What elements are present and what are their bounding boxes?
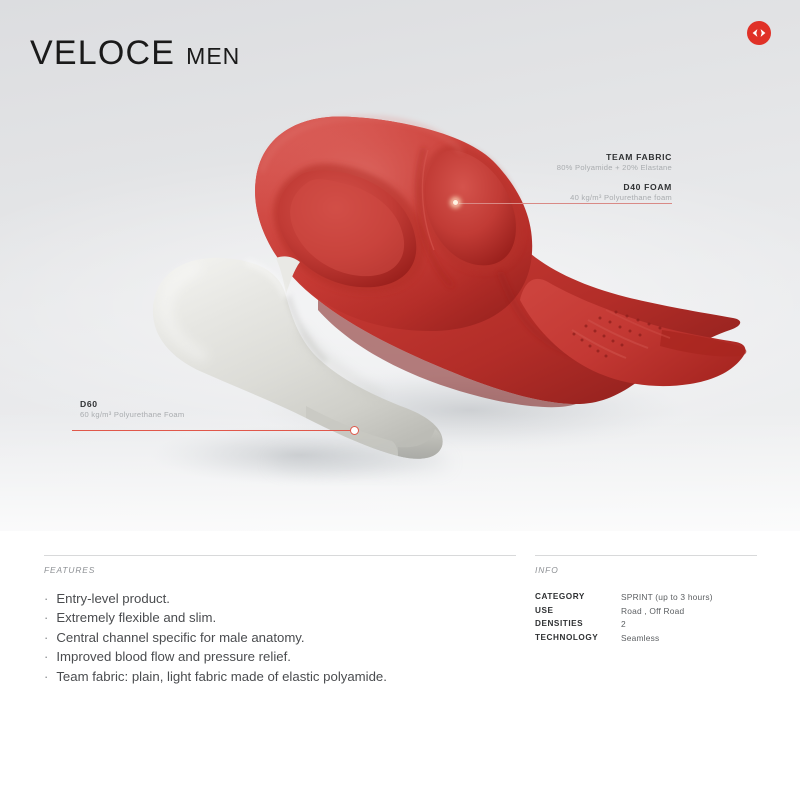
list-item: · Entry-level product. <box>44 591 516 608</box>
features-list: · Entry-level product. · Extremely flexi… <box>44 591 516 685</box>
bullet-icon: · <box>44 610 48 627</box>
info-label: INFO <box>535 565 757 575</box>
features-divider <box>44 555 516 556</box>
bullet-icon: · <box>44 669 48 686</box>
leader-line-d40 <box>458 203 672 204</box>
hero-section: TEAM FABRIC 80% Polyamide + 20% Elastane… <box>0 0 800 531</box>
callout-d60-foam-title: D60 <box>80 399 184 410</box>
page-title-sub: MEN <box>186 45 240 68</box>
foam-contact-shadow <box>270 449 450 475</box>
feature-text: Team fabric: plain, light fabric made of… <box>56 669 387 686</box>
info-value: Seamless <box>621 633 757 647</box>
info-divider <box>535 555 757 556</box>
callout-d60-foam-desc: 60 kg/m³ Polyurethane Foam <box>80 410 184 420</box>
feature-text: Improved blood flow and pressure relief. <box>56 649 291 666</box>
page-title: VELOCE MEN <box>30 36 240 70</box>
bullet-icon: · <box>44 591 48 608</box>
prev-next-arrows-icon <box>751 28 767 38</box>
feature-text: Central channel specific for male anatom… <box>56 630 304 647</box>
list-item: · Improved blood flow and pressure relie… <box>44 649 516 666</box>
info-key: TECHNOLOGY <box>535 633 621 647</box>
feature-text: Extremely flexible and slim. <box>56 610 216 627</box>
callout-team-fabric: TEAM FABRIC 80% Polyamide + 20% Elastane <box>557 152 672 173</box>
product-image <box>0 0 800 531</box>
info-key: DENSITIES <box>535 619 621 633</box>
info-value: Road , Off Road <box>621 606 757 620</box>
table-row: DENSITIES 2 <box>535 619 757 633</box>
callout-team-fabric-title: TEAM FABRIC <box>557 152 672 163</box>
info-key: CATEGORY <box>535 592 621 606</box>
info-value: 2 <box>621 619 757 633</box>
feature-text: Entry-level product. <box>56 591 170 608</box>
callout-d40-foam-title: D40 FOAM <box>570 182 672 193</box>
info-table: CATEGORY SPRINT (up to 3 hours) USE Road… <box>535 592 757 646</box>
table-row: USE Road , Off Road <box>535 606 757 620</box>
features-panel: FEATURES · Entry-level product. · Extrem… <box>44 555 516 688</box>
list-item: · Central channel specific for male anat… <box>44 630 516 647</box>
page-title-main: VELOCE <box>30 36 175 70</box>
leader-dot-d40 <box>452 199 459 206</box>
callout-team-fabric-desc: 80% Polyamide + 20% Elastane <box>557 163 672 173</box>
callout-d60-foam: D60 60 kg/m³ Polyurethane Foam <box>80 399 184 420</box>
list-item: · Extremely flexible and slim. <box>44 610 516 627</box>
list-item: · Team fabric: plain, light fabric made … <box>44 669 516 686</box>
table-row: TECHNOLOGY Seamless <box>535 633 757 647</box>
leader-dot-d60 <box>350 426 359 435</box>
prev-next-button[interactable] <box>747 21 771 45</box>
callout-d40-foam: D40 FOAM 40 kg/m³ Polyurethane foam <box>570 182 672 203</box>
table-row: CATEGORY SPRINT (up to 3 hours) <box>535 592 757 606</box>
info-panel: INFO CATEGORY SPRINT (up to 3 hours) USE… <box>535 555 757 646</box>
leader-line-d60 <box>72 430 354 431</box>
callout-d40-foam-desc: 40 kg/m³ Polyurethane foam <box>570 193 672 203</box>
info-key: USE <box>535 606 621 620</box>
bullet-icon: · <box>44 649 48 666</box>
details-section: FEATURES · Entry-level product. · Extrem… <box>0 531 800 800</box>
info-value: SPRINT (up to 3 hours) <box>621 592 757 606</box>
product-detail-page: TEAM FABRIC 80% Polyamide + 20% Elastane… <box>0 0 800 800</box>
features-label: FEATURES <box>44 565 516 575</box>
bullet-icon: · <box>44 630 48 647</box>
